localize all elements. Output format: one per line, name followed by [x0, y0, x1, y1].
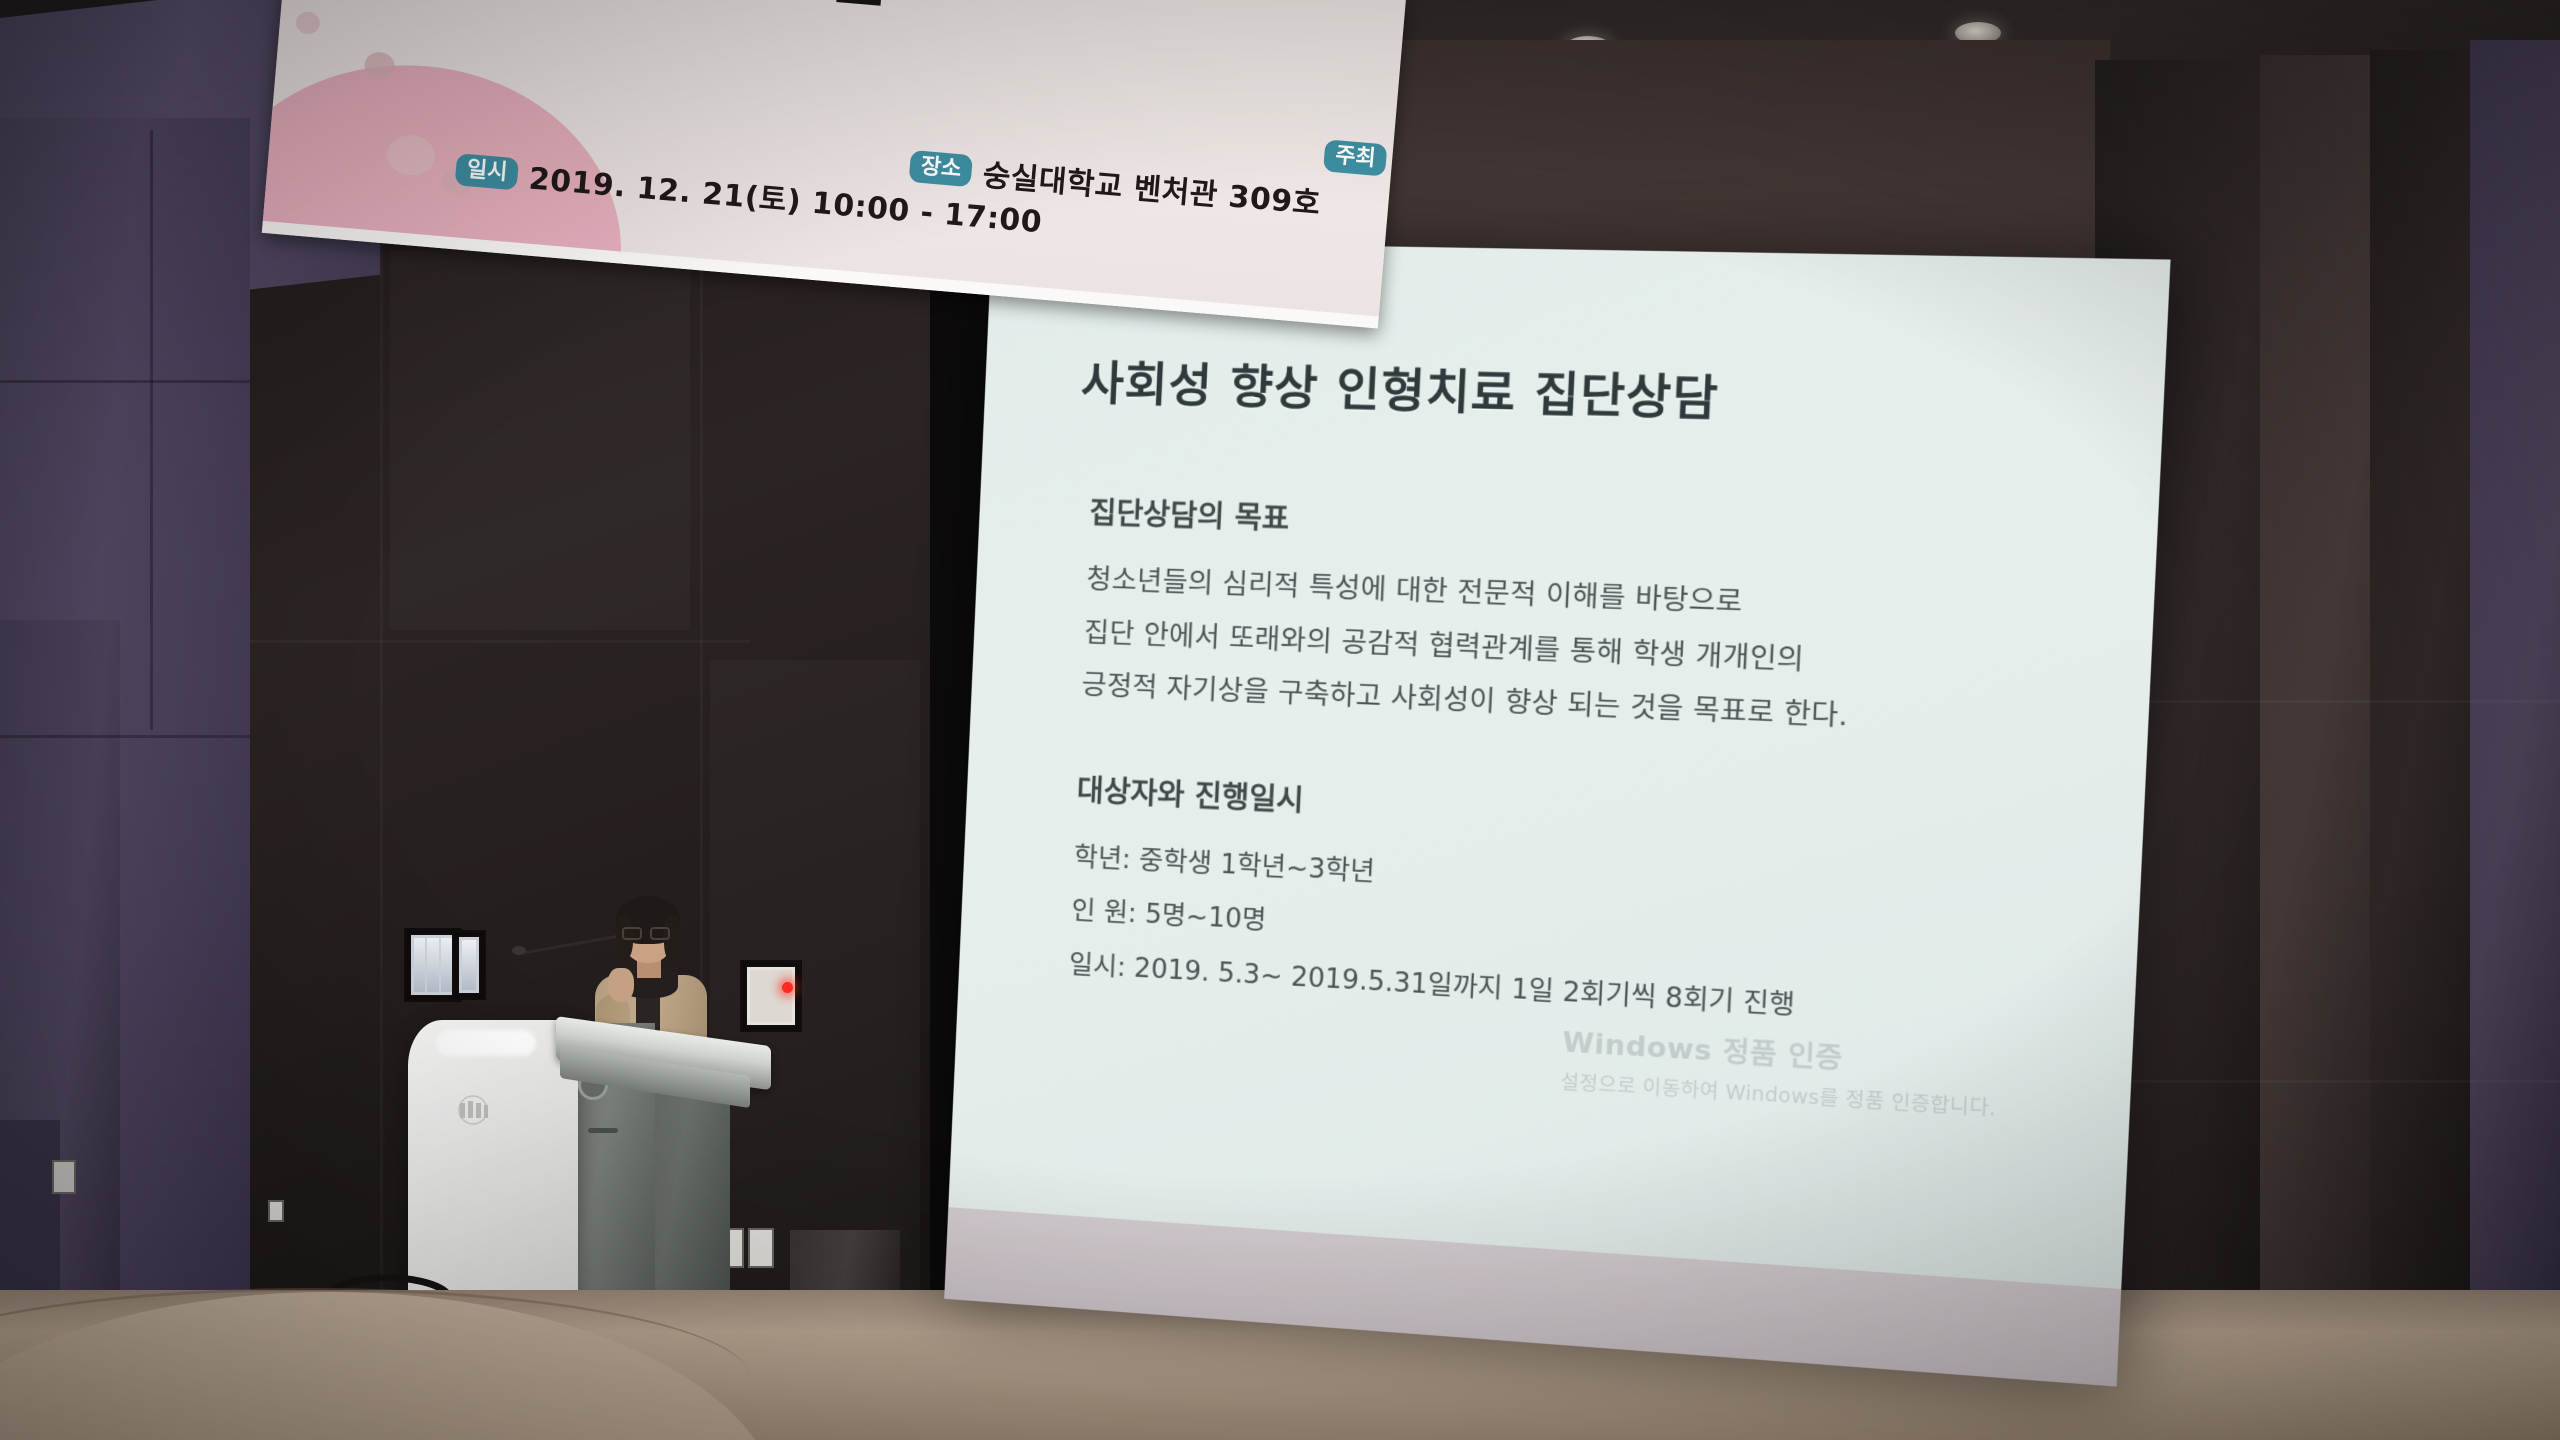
wall-outlet-plate [52, 1160, 76, 1194]
panel-column [441, 938, 452, 992]
wall-panel-seam [2095, 700, 2560, 703]
panel-column [750, 970, 792, 1022]
banner-title: 학교상담 [613, 0, 901, 23]
wall-panel-left-2[interactable] [452, 930, 486, 1000]
slide-section: 집단상담의 목표 청소년들의 심리적 특성에 대한 전문적 이해를 바탕으로 집… [1066, 489, 2050, 753]
presentation-slide: 사회성 향상 인형치료 집단상담 집단상담의 목표 청소년들의 심리적 특성에 … [948, 240, 2170, 1289]
wall-panel-seam [250, 640, 750, 643]
wall-outlet-plate [268, 1200, 284, 1222]
slide-section: 대상자와 진행일시 학년: 중학생 1학년~3학년 인 원: 5명~10명 일시… [1054, 766, 2037, 1047]
status-led-indicator [782, 982, 793, 993]
presenter-hand [608, 968, 634, 1002]
wall-panel-right[interactable] [740, 960, 802, 1032]
panel-face [411, 935, 455, 995]
wall-panel-seam [0, 735, 250, 738]
auditorium-scene: 사회성 향상 인형치료 집단상담 집단상담의 목표 청소년들의 심리적 특성에 … [0, 0, 2560, 1440]
panel-face [747, 967, 795, 1025]
podium-highlight [436, 1030, 536, 1056]
wall-outlet-plate [748, 1228, 774, 1268]
panel-column [462, 940, 476, 990]
banner-decoration-dot [295, 11, 321, 35]
wall-column [2370, 50, 2480, 1310]
wall-panel-seam [380, 230, 383, 1310]
panel-face [459, 937, 479, 993]
wall-column [2260, 55, 2380, 1310]
slide-title: 사회성 향상 인형치료 집단상담 [1080, 346, 2058, 438]
panel-column [427, 938, 438, 992]
glasses-icon [622, 927, 672, 940]
podium-logo-icon [440, 1095, 506, 1125]
banner-badge: 주최 [1323, 139, 1388, 176]
right-purple-panel [2470, 40, 2560, 1330]
microphone-head-icon [512, 946, 526, 955]
wall-panel-seam [2095, 1080, 2560, 1083]
wall-panel-seam [150, 130, 153, 730]
projection-screen[interactable]: 사회성 향상 인형치료 집단상담 집단상담의 목표 청소년들의 심리적 특성에 … [944, 240, 2170, 1387]
wall-panel-block [390, 250, 690, 630]
banner-badge: 일시 [455, 153, 520, 190]
banner-badge: 장소 [909, 150, 974, 187]
wall-panel-seam [0, 380, 250, 383]
panel-column [414, 938, 425, 992]
slide-section-heading: 집단상담의 목표 [1089, 489, 2051, 562]
podium-slot [588, 1128, 618, 1133]
